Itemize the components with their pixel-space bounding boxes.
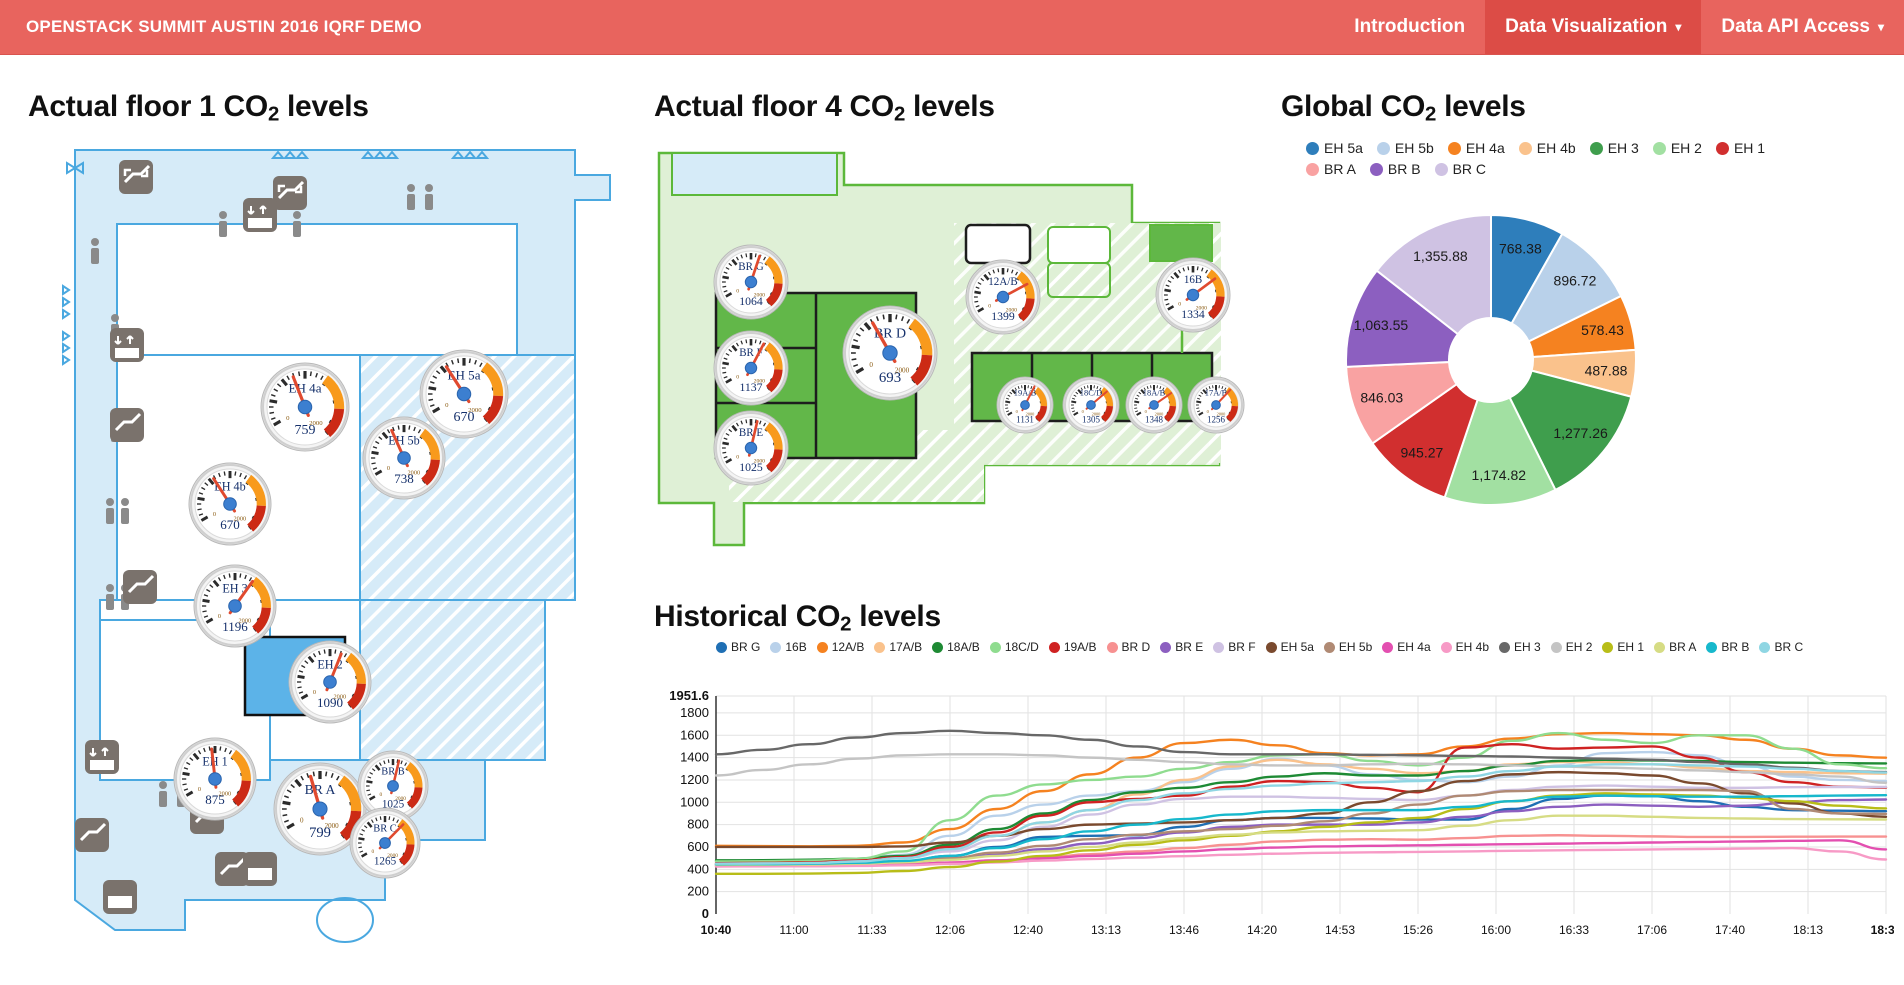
pie-slice-label: 1,277.26 bbox=[1553, 425, 1608, 441]
legend-color-swatch bbox=[1706, 642, 1717, 653]
nav-item-data-api-access[interactable]: Data API Access ▾ bbox=[1701, 0, 1904, 54]
gauge-value: 738 bbox=[394, 471, 414, 486]
y-axis-tick-label: 200 bbox=[687, 884, 709, 899]
brand-title: OPENSTACK SUMMIT AUSTIN 2016 IQRF DEMO bbox=[0, 0, 448, 54]
legend-color-swatch bbox=[1107, 642, 1118, 653]
y-axis-tick-label: 400 bbox=[687, 861, 709, 876]
legend-color-swatch bbox=[716, 642, 727, 653]
line-chart-legend: BR G16B12A/B17A/B18A/B18C/D19A/BBR DBR E… bbox=[716, 640, 1904, 654]
global-heading-pre: Global CO bbox=[1281, 90, 1425, 123]
gauge-value: 1196 bbox=[222, 619, 248, 634]
legend-color-swatch bbox=[817, 642, 828, 653]
svg-text:0: 0 bbox=[379, 792, 382, 798]
gauge-value: 1348 bbox=[1145, 414, 1163, 424]
legend-color-swatch bbox=[770, 642, 781, 653]
gauge-label: 16B bbox=[1184, 274, 1202, 286]
legend-color-swatch bbox=[1716, 142, 1729, 155]
gauge-eh-4a[interactable]: 02000EH 4a759 bbox=[260, 362, 350, 452]
x-axis-tick-label: 15:26 bbox=[1403, 923, 1433, 937]
global-pie-panel: EH 5aEH 5bEH 4aEH 4bEH 3EH 2EH 1BR ABR B… bbox=[1281, 140, 1861, 560]
x-axis-tick-label: 13:46 bbox=[1169, 923, 1199, 937]
x-axis-tick-label: 14:20 bbox=[1247, 923, 1277, 937]
pie-slice-label: 578.43 bbox=[1581, 322, 1624, 338]
legend-label: BR E bbox=[1175, 640, 1203, 654]
gauge-label: BR A bbox=[305, 782, 336, 797]
gauge-19a-b[interactable]: 0200019A/B1131 bbox=[996, 376, 1054, 434]
line-legend-item[interactable]: 19A/B bbox=[1049, 640, 1097, 654]
svg-text:0: 0 bbox=[988, 304, 991, 310]
svg-text:0: 0 bbox=[387, 465, 390, 472]
y-axis-tick-label: 0 bbox=[702, 906, 709, 921]
legend-label: 16B bbox=[785, 640, 806, 654]
gauge-16b[interactable]: 0200016B1334 bbox=[1155, 257, 1231, 333]
historical-heading-pre: Historical CO bbox=[654, 600, 840, 633]
pie-legend-item[interactable]: EH 5b bbox=[1377, 140, 1434, 156]
legend-color-swatch bbox=[1499, 642, 1510, 653]
legend-color-swatch bbox=[1213, 642, 1224, 653]
svg-text:0: 0 bbox=[313, 689, 316, 696]
gauge-value: 693 bbox=[879, 370, 901, 386]
y-axis-tick-label: 1000 bbox=[680, 794, 709, 809]
gauge-value: 1137 bbox=[739, 381, 762, 394]
legend-color-swatch bbox=[1435, 163, 1448, 176]
nav-item-label: Introduction bbox=[1354, 16, 1465, 38]
pie-legend-item[interactable]: EH 4b bbox=[1519, 140, 1576, 156]
floor4-heading-pre: Actual floor 4 CO bbox=[654, 90, 894, 123]
floor1-room-n bbox=[117, 224, 517, 355]
line-legend-item[interactable]: BR B bbox=[1706, 640, 1749, 654]
gauge-br-e[interactable]: 02000BR E1025 bbox=[713, 410, 789, 486]
legend-color-swatch bbox=[1306, 142, 1319, 155]
floor1-heading-pre: Actual floor 1 CO bbox=[28, 90, 268, 123]
legend-label: BR B bbox=[1388, 161, 1421, 177]
line-legend-item[interactable]: BR A bbox=[1654, 640, 1696, 654]
gauge-label: BR E bbox=[739, 427, 763, 439]
floor1-rotunda bbox=[317, 898, 373, 942]
line-legend-item[interactable]: EH 3 bbox=[1499, 640, 1541, 654]
x-axis-tick-label: 11:00 bbox=[779, 923, 808, 937]
legend-color-swatch bbox=[1377, 142, 1390, 155]
legend-color-swatch bbox=[1382, 642, 1393, 653]
legend-color-swatch bbox=[1590, 142, 1603, 155]
pie-legend-item[interactable]: EH 4a bbox=[1448, 140, 1505, 156]
x-axis-tick-label: 16:00 bbox=[1481, 923, 1511, 937]
line-legend-item[interactable]: BR D bbox=[1107, 640, 1151, 654]
gauge-label: EH 4a bbox=[289, 381, 322, 396]
gauge-br-c[interactable]: 02000BR C1265 bbox=[349, 807, 421, 879]
floor1-floorplan: 02000EH 4a75902000EH 5a67002000EH 5b7380… bbox=[55, 140, 625, 970]
legend-label: BR C bbox=[1453, 161, 1486, 177]
legend-label: EH 1 bbox=[1617, 640, 1644, 654]
nav-item-introduction[interactable]: Introduction bbox=[1334, 0, 1485, 54]
legend-color-swatch bbox=[990, 642, 1001, 653]
legend-label: BR A bbox=[1669, 640, 1696, 654]
gauge-value: 670 bbox=[454, 410, 475, 425]
pie-slice-label: 1,355.88 bbox=[1413, 248, 1468, 264]
pie-legend-item[interactable]: BR C bbox=[1435, 161, 1486, 177]
gauge-value: 1090 bbox=[317, 695, 344, 710]
svg-text:0: 0 bbox=[736, 375, 739, 381]
legend-color-swatch bbox=[1448, 142, 1461, 155]
floor4-room-white-1 bbox=[966, 225, 1030, 263]
gauge-label: 12A/B bbox=[988, 276, 1017, 288]
gauge-value: 1064 bbox=[739, 295, 763, 308]
legend-label: 19A/B bbox=[1064, 640, 1097, 654]
legend-label: BR F bbox=[1228, 640, 1255, 654]
svg-text:0: 0 bbox=[736, 455, 739, 461]
y-axis-tick-label: 600 bbox=[687, 839, 709, 854]
line-chart[interactable]: 0200400600800100012001400160018001951.61… bbox=[654, 688, 1894, 955]
svg-text:0: 0 bbox=[300, 817, 304, 825]
x-axis-tick-label: 10:40 bbox=[701, 923, 732, 937]
nav-item-data-visualization[interactable]: Data Visualization ▾ bbox=[1485, 0, 1701, 54]
gauge-eh-2[interactable]: 02000EH 21090 bbox=[288, 640, 372, 724]
gauge-18c-d[interactable]: 0200018C/D1305 bbox=[1062, 376, 1120, 434]
pie-legend-item[interactable]: EH 2 bbox=[1653, 140, 1702, 156]
pie-legend-item[interactable]: EH 3 bbox=[1590, 140, 1639, 156]
legend-label: BR B bbox=[1721, 640, 1749, 654]
legend-label: 18A/B bbox=[947, 640, 980, 654]
x-axis-tick-label: 17:40 bbox=[1715, 923, 1745, 937]
legend-label: BR C bbox=[1774, 640, 1803, 654]
line-legend-item[interactable]: 18C/D bbox=[990, 640, 1039, 654]
legend-color-swatch bbox=[1049, 642, 1060, 653]
gauge-value: 759 bbox=[295, 423, 316, 438]
line-legend-item[interactable]: 12A/B bbox=[817, 640, 865, 654]
legend-color-swatch bbox=[1306, 163, 1319, 176]
legend-label: EH 5a bbox=[1324, 140, 1363, 156]
legend-color-swatch bbox=[1266, 642, 1277, 653]
gauge-value: 1025 bbox=[739, 461, 763, 474]
historical-chart-panel: BR G16B12A/B17A/B18A/B18C/D19A/BBR DBR E… bbox=[654, 640, 1894, 985]
x-axis-tick-label: 18:13 bbox=[1793, 923, 1823, 937]
legend-color-swatch bbox=[1441, 642, 1452, 653]
gauge-value: 1334 bbox=[1181, 308, 1205, 321]
floor1-heading: Actual floor 1 CO2 levels bbox=[28, 90, 369, 126]
pie-slice-label: 768.38 bbox=[1499, 240, 1542, 256]
svg-text:0: 0 bbox=[1016, 409, 1018, 414]
legend-label: EH 5b bbox=[1395, 140, 1434, 156]
gauge-value: 1265 bbox=[374, 856, 397, 868]
legend-label: EH 4b bbox=[1456, 640, 1489, 654]
gauge-17a-b[interactable]: 0200017A/B1256 bbox=[1187, 376, 1245, 434]
historical-heading: Historical CO2 levels bbox=[654, 600, 941, 636]
line-legend-item[interactable]: BR C bbox=[1759, 640, 1803, 654]
legend-label: EH 1 bbox=[1734, 140, 1765, 156]
chevron-down-icon: ▾ bbox=[1675, 21, 1681, 33]
gauge-value: 1131 bbox=[1016, 414, 1034, 424]
global-heading-sub: 2 bbox=[1425, 103, 1436, 125]
legend-label: BR A bbox=[1324, 161, 1356, 177]
y-axis-tick-label: 1600 bbox=[680, 727, 709, 742]
gauge-value: 799 bbox=[309, 825, 331, 841]
line-legend-item[interactable]: 18A/B bbox=[932, 640, 980, 654]
floor4-floorplan: 02000BR G106402000BR F113702000BR E10250… bbox=[654, 145, 1254, 555]
pie-slice-label: 1,063.55 bbox=[1354, 317, 1409, 333]
line-legend-item[interactable]: EH 4a bbox=[1382, 640, 1430, 654]
floor4-heading-sub: 2 bbox=[894, 103, 905, 125]
x-axis-tick-label: 16:33 bbox=[1559, 923, 1589, 937]
legend-label: EH 5b bbox=[1339, 640, 1372, 654]
line-legend-item[interactable]: BR F bbox=[1213, 640, 1255, 654]
svg-text:0: 0 bbox=[1082, 409, 1084, 414]
pie-legend-item[interactable]: BR A bbox=[1306, 161, 1356, 177]
gauge-br-f[interactable]: 02000BR F1137 bbox=[713, 330, 789, 406]
legend-label: BR G bbox=[731, 640, 760, 654]
svg-text:0: 0 bbox=[736, 289, 739, 295]
legend-color-swatch bbox=[1759, 642, 1770, 653]
x-axis-tick-label: 13:13 bbox=[1091, 923, 1121, 937]
pie-slice-label: 846.03 bbox=[1360, 389, 1403, 405]
y-axis-tick-label: 1951.6 bbox=[669, 688, 709, 703]
svg-text:0: 0 bbox=[1207, 409, 1209, 414]
legend-label: EH 3 bbox=[1608, 140, 1639, 156]
gauge-value: 1399 bbox=[991, 310, 1015, 323]
floor4-blue-zone bbox=[672, 153, 837, 195]
legend-color-swatch bbox=[1324, 642, 1335, 653]
line-legend-item[interactable]: BR G bbox=[716, 640, 760, 654]
pie-slice-label: 487.88 bbox=[1585, 363, 1628, 379]
gauge-label: BR B bbox=[381, 766, 405, 777]
historical-heading-sub: 2 bbox=[840, 613, 851, 635]
legend-label: EH 5a bbox=[1281, 640, 1314, 654]
legend-color-swatch bbox=[1370, 163, 1383, 176]
legend-label: EH 3 bbox=[1514, 640, 1541, 654]
line-legend-item[interactable]: EH 1 bbox=[1602, 640, 1644, 654]
legend-color-swatch bbox=[1653, 142, 1666, 155]
gauge-18a-b[interactable]: 0200018A/B1348 bbox=[1125, 376, 1183, 434]
line-legend-item[interactable]: EH 5a bbox=[1266, 640, 1314, 654]
svg-text:0: 0 bbox=[371, 849, 374, 855]
x-axis-tick-label: 11:33 bbox=[857, 923, 886, 937]
gauge-12a-b[interactable]: 0200012A/B1399 bbox=[965, 259, 1041, 335]
gauge-eh-3[interactable]: 02000EH 31196 bbox=[193, 564, 277, 648]
floor4-heading-post: levels bbox=[905, 90, 995, 123]
x-axis-tick-label: 18:30 bbox=[1871, 923, 1894, 937]
pie-chart[interactable]: 768.38896.72578.43487.881,277.261,174.82… bbox=[1341, 210, 1641, 515]
floor4-heading: Actual floor 4 CO2 levels bbox=[654, 90, 995, 126]
pie-slice-label: 945.27 bbox=[1400, 445, 1443, 461]
pie-slice-label: 896.72 bbox=[1554, 273, 1597, 289]
chevron-down-icon: ▾ bbox=[1878, 21, 1884, 33]
gauge-br-d[interactable]: 02000BR D693 bbox=[842, 305, 938, 401]
line-legend-item[interactable]: EH 5b bbox=[1324, 640, 1372, 654]
svg-text:0: 0 bbox=[198, 786, 201, 793]
svg-text:0: 0 bbox=[218, 613, 221, 620]
x-axis-tick-label: 17:06 bbox=[1637, 923, 1667, 937]
svg-text:0: 0 bbox=[1178, 302, 1181, 308]
legend-label: 18C/D bbox=[1005, 640, 1039, 654]
pie-legend: EH 5aEH 5bEH 4aEH 4bEH 3EH 2EH 1BR ABR B… bbox=[1306, 140, 1806, 177]
top-navbar: OPENSTACK SUMMIT AUSTIN 2016 IQRF DEMO I… bbox=[0, 0, 1904, 55]
nav-item-label: Data API Access bbox=[1721, 16, 1870, 38]
line-legend-item[interactable]: BR E bbox=[1160, 640, 1203, 654]
floor4-room-green-3 bbox=[1150, 225, 1212, 261]
line-legend-item[interactable]: 16B bbox=[770, 640, 806, 654]
line-legend-item[interactable]: 17A/B bbox=[874, 640, 922, 654]
x-axis-tick-label: 12:06 bbox=[935, 923, 965, 937]
gauge-label: 18A/B bbox=[1143, 389, 1166, 398]
floor1-heading-post: levels bbox=[279, 90, 369, 123]
legend-color-swatch bbox=[874, 642, 885, 653]
gauge-value: 1256 bbox=[1207, 414, 1225, 424]
gauge-value: 670 bbox=[220, 517, 240, 532]
legend-label: EH 2 bbox=[1671, 140, 1702, 156]
gauge-value: 1305 bbox=[1082, 414, 1100, 424]
legend-color-swatch bbox=[1519, 142, 1532, 155]
svg-text:0: 0 bbox=[1145, 409, 1147, 414]
legend-color-swatch bbox=[1602, 642, 1613, 653]
legend-label: BR D bbox=[1122, 640, 1151, 654]
legend-color-swatch bbox=[1160, 642, 1171, 653]
y-axis-tick-label: 1200 bbox=[680, 772, 709, 787]
floor1-heading-sub: 2 bbox=[268, 103, 279, 125]
gauge-value: 875 bbox=[205, 792, 225, 807]
gauge-label: 18C/D bbox=[1080, 389, 1102, 398]
svg-text:0: 0 bbox=[869, 361, 873, 369]
gauge-eh-1[interactable]: 02000EH 1875 bbox=[173, 737, 257, 821]
line-legend-item[interactable]: EH 4b bbox=[1441, 640, 1489, 654]
floor4-room-hatch-2 bbox=[1048, 263, 1110, 297]
gauge-label: BR G bbox=[738, 261, 763, 273]
legend-color-swatch bbox=[932, 642, 943, 653]
pie-legend-item[interactable]: BR B bbox=[1370, 161, 1421, 177]
gauge-eh-4b[interactable]: 02000EH 4b670 bbox=[188, 462, 272, 546]
x-axis-tick-label: 14:53 bbox=[1325, 923, 1355, 937]
pie-legend-item[interactable]: EH 1 bbox=[1716, 140, 1765, 156]
navbar-items: Introduction Data Visualization ▾ Data A… bbox=[1334, 0, 1904, 54]
y-axis-tick-label: 1800 bbox=[680, 705, 709, 720]
legend-label: EH 4b bbox=[1537, 140, 1576, 156]
legend-label: EH 4a bbox=[1397, 640, 1430, 654]
svg-text:0: 0 bbox=[213, 511, 216, 518]
nav-item-label: Data Visualization bbox=[1505, 16, 1667, 38]
legend-label: 17A/B bbox=[889, 640, 922, 654]
line-legend-item[interactable]: EH 2 bbox=[1551, 640, 1593, 654]
gauge-br-g[interactable]: 02000BR G1064 bbox=[713, 244, 789, 320]
y-axis-tick-label: 1400 bbox=[680, 750, 709, 765]
gauge-eh-5b[interactable]: 02000EH 5b738 bbox=[362, 416, 446, 500]
legend-label: 12A/B bbox=[832, 640, 865, 654]
historical-heading-post: levels bbox=[851, 600, 941, 633]
legend-label: EH 2 bbox=[1566, 640, 1593, 654]
floor1-hatched-zone-b bbox=[360, 600, 545, 760]
legend-color-swatch bbox=[1654, 642, 1665, 653]
global-heading: Global CO2 levels bbox=[1281, 90, 1526, 126]
floor4-room-white-2 bbox=[1048, 227, 1110, 263]
pie-slice-label: 1,174.82 bbox=[1472, 467, 1527, 483]
legend-color-swatch bbox=[1551, 642, 1562, 653]
pie-legend-item[interactable]: EH 5a bbox=[1306, 140, 1363, 156]
x-axis-tick-label: 12:40 bbox=[1013, 923, 1043, 937]
y-axis-tick-label: 800 bbox=[687, 817, 709, 832]
global-heading-post: levels bbox=[1436, 90, 1526, 123]
legend-label: EH 4a bbox=[1466, 140, 1505, 156]
